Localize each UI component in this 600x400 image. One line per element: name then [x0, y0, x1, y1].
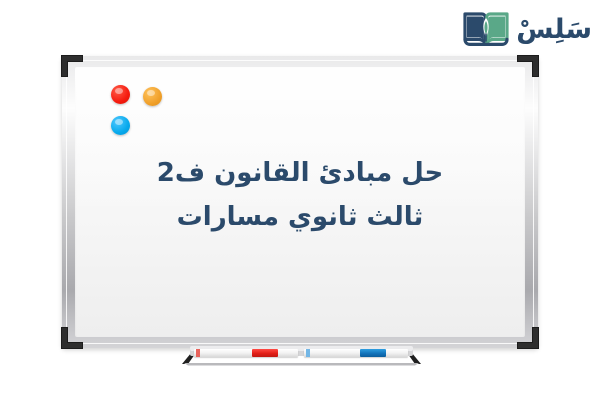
- corner-bracket-bottom-left: [59, 325, 85, 351]
- marker-blue-body[interactable]: [304, 349, 408, 357]
- marker-group: [194, 349, 409, 358]
- board-headline: حل مبادئ القانون ف2 ثالث ثانوي مسارات: [75, 151, 525, 239]
- whiteboard: حل مبادئ القانون ف2 ثالث ثانوي مسارات: [62, 56, 538, 352]
- magnet-blue[interactable]: [111, 116, 130, 135]
- marker-red-tip: [196, 349, 200, 357]
- open-book-with-quill-icon: [462, 8, 510, 50]
- pen-tray: [180, 344, 423, 366]
- magnet-group: [111, 85, 181, 145]
- marker-red-body[interactable]: [194, 349, 298, 357]
- whiteboard-surface: حل مبادئ القانون ف2 ثالث ثانوي مسارات: [75, 67, 525, 337]
- marker-blue-tip: [306, 349, 310, 357]
- marker-red-cap: [252, 349, 278, 357]
- magnet-orange[interactable]: [143, 87, 162, 106]
- corner-bracket-top-left: [59, 53, 85, 79]
- headline-line-1: حل مبادئ القانون ف2: [75, 151, 525, 195]
- marker-blue-cap: [360, 349, 386, 357]
- headline-line-2: ثالث ثانوي مسارات: [75, 195, 525, 239]
- brand-logo[interactable]: سَلِسْ: [462, 6, 592, 52]
- brand-name: سَلِسْ: [516, 16, 592, 43]
- magnet-red[interactable]: [111, 85, 130, 104]
- corner-bracket-top-right: [515, 53, 541, 79]
- corner-bracket-bottom-right: [515, 325, 541, 351]
